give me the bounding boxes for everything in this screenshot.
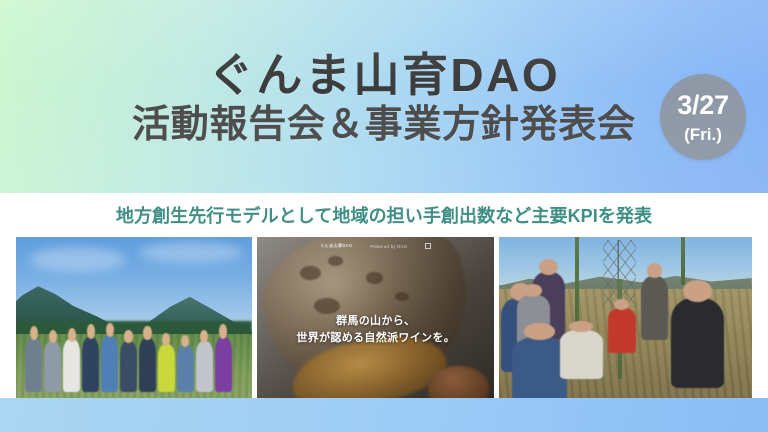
person-figure: [196, 341, 213, 392]
person-figure: [139, 338, 156, 392]
cloud-shape: [139, 242, 243, 263]
event-description-text: 地方創生先行モデルとして地域の担い手創出数など主要KPIを発表: [116, 202, 652, 228]
hero-copy-line-2: 世界が認める自然派ワインを。: [257, 330, 493, 347]
event-date-day-of-week: (Fri.): [684, 126, 722, 143]
menu-icon[interactable]: [425, 243, 431, 249]
person-figure: [671, 298, 724, 388]
bottom-accent-bar: [0, 398, 768, 432]
person-figure: [560, 330, 603, 378]
website-logo[interactable]: ぐんま山育DAO: [320, 243, 352, 249]
website-nav-bar[interactable]: ぐんま山育DAO Powered by DAO: [257, 243, 493, 249]
person-figure: [512, 337, 568, 398]
person-figure: [101, 335, 118, 392]
people-group: [16, 319, 252, 391]
event-banner: ぐんま山育DAO 活動報告会＆事業方針発表会 3/27 (Fri.) 地方創生先…: [0, 0, 768, 432]
page-subtitle-heading: 活動報告会＆事業方針発表会: [132, 105, 636, 146]
person-figure: [215, 337, 232, 392]
subtitle-band: 地方創生先行モデルとして地域の担い手創出数など主要KPIを発表: [0, 193, 768, 237]
person-figure: [44, 341, 61, 392]
website-nav-link[interactable]: Powered by DAO: [370, 244, 407, 249]
glass-speck: [328, 256, 342, 266]
glass-speck: [366, 272, 383, 283]
page-title: ぐんま山育DAO: [208, 51, 560, 100]
event-date-badge: 3/27 (Fri.): [660, 74, 746, 160]
photo-planting-workshop: [499, 237, 752, 398]
photo-group-vineyard: [16, 237, 252, 398]
photo-website-wine-glass: ぐんま山育DAO Powered by DAO 群馬の山から、 世界が認める自然…: [257, 237, 493, 398]
cloud-shape: [30, 247, 125, 273]
person-figure: [158, 344, 175, 392]
person-figure: [641, 276, 669, 340]
person-figure: [82, 337, 99, 392]
person-figure: [25, 338, 42, 392]
support-pole: [681, 237, 685, 285]
website-hero-copy: 群馬の山から、 世界が認める自然派ワインを。: [257, 313, 493, 347]
hero-text-block: ぐんま山育DAO 活動報告会＆事業方針発表会: [0, 0, 768, 193]
photo-strip: ぐんま山育DAO Powered by DAO 群馬の山から、 世界が認める自然…: [0, 237, 768, 398]
hero-gradient-band: ぐんま山育DAO 活動報告会＆事業方針発表会 3/27 (Fri.): [0, 0, 768, 193]
hero-copy-line-1: 群馬の山から、: [257, 313, 493, 330]
event-date-day: 3/27: [677, 92, 728, 119]
person-figure: [608, 308, 636, 353]
person-figure: [120, 341, 137, 392]
person-figure: [63, 339, 80, 391]
person-figure: [177, 345, 194, 391]
